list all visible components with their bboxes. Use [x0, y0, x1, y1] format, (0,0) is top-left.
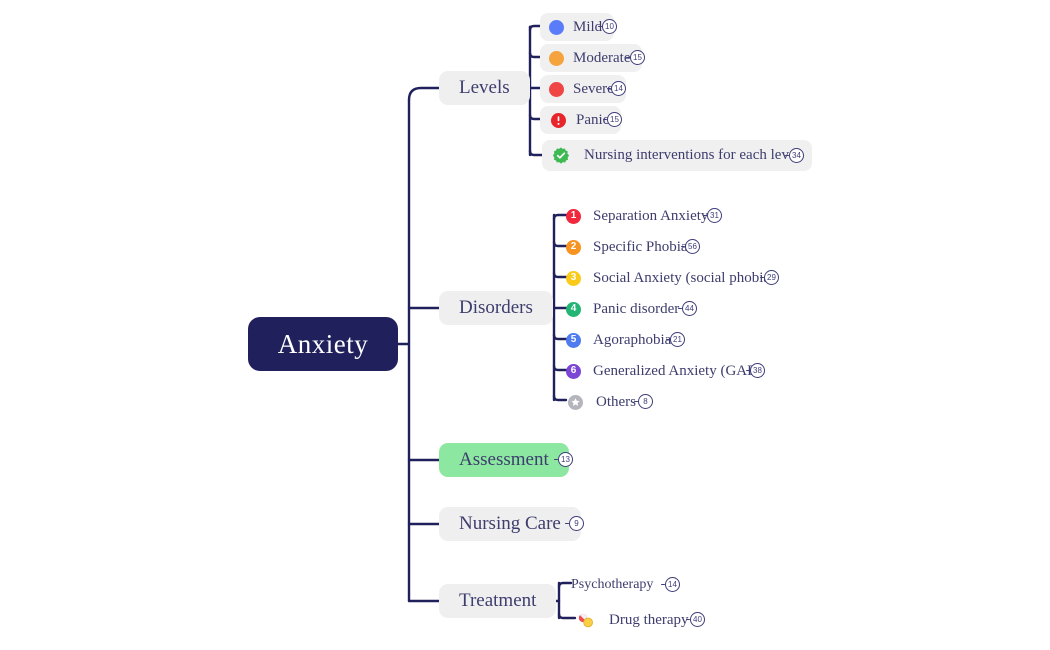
count-value: 21 [670, 332, 685, 347]
count-value: 38 [750, 363, 765, 378]
mindmap-canvas: Anxiety Levels Mild 10 Moderate 15 Sever… [0, 0, 1050, 650]
leaf-node-social-anxiety-label: Social Anxiety (social phobia) [593, 270, 775, 287]
number-badge-5-icon: 5 [566, 333, 581, 348]
count-value: 31 [707, 208, 722, 223]
count-badge-separation-anxiety[interactable]: 31 [703, 208, 722, 223]
count-badge-specific-phobia[interactable]: 56 [681, 239, 700, 254]
leaf-node-nursing-interventions-label: Nursing interventions for each level [584, 147, 800, 164]
count-value: 9 [569, 516, 584, 531]
count-value: 29 [764, 270, 779, 285]
count-value: 15 [630, 50, 645, 65]
count-badge-social-anxiety[interactable]: 29 [760, 270, 779, 285]
leaf-node-nursing-interventions[interactable]: Nursing interventions for each level [542, 140, 812, 171]
dot-icon [549, 20, 564, 35]
count-badge-panic-disorder[interactable]: 44 [678, 301, 697, 316]
number-badge-1-icon: 1 [566, 209, 581, 224]
exclamation-circle-icon [549, 111, 567, 129]
leaf-node-drug-therapy-label: Drug therapy [609, 612, 689, 629]
leaf-node-drug-therapy[interactable]: Drug therapy [577, 606, 701, 634]
count-badge-others[interactable]: 8 [634, 394, 653, 409]
count-value: 13 [558, 452, 573, 467]
count-badge-generalized-anxiety[interactable]: 38 [746, 363, 765, 378]
count-badge-severe[interactable]: 14 [607, 81, 626, 96]
leaf-node-agoraphobia-label: Agoraphobia [593, 332, 671, 349]
leaf-node-specific-phobia-label: Specific Phobia [593, 239, 688, 256]
leaf-node-moderate-label: Moderate [573, 50, 630, 67]
root-node-label: Anxiety [278, 329, 369, 360]
count-badge-agoraphobia[interactable]: 21 [666, 332, 685, 347]
count-badge-nursing-interventions[interactable]: 34 [785, 148, 804, 163]
count-value: 56 [685, 239, 700, 254]
branch-node-assessment-label: Assessment [459, 449, 549, 471]
count-value: 15 [607, 112, 622, 127]
leaf-node-social-anxiety[interactable]: 3 Social Anxiety (social phobia) [566, 264, 787, 292]
branch-node-disorders-label: Disorders [459, 297, 533, 319]
count-badge-nursing-care[interactable]: 9 [565, 516, 584, 531]
number-badge-6-icon: 6 [566, 364, 581, 379]
branch-node-treatment-label: Treatment [459, 590, 536, 612]
dot-icon [549, 51, 564, 66]
branch-node-disorders[interactable]: Disorders [439, 291, 553, 325]
count-value: 40 [690, 612, 705, 627]
leaf-node-panic-disorder[interactable]: 4 Panic disorder [566, 295, 691, 323]
leaf-node-psychotherapy[interactable]: Psychotherapy [571, 571, 665, 599]
count-value: 34 [789, 148, 804, 163]
leaf-node-separation-anxiety[interactable]: 1 Separation Anxiety [566, 202, 720, 230]
number-badge-3-icon: 3 [566, 271, 581, 286]
branch-node-treatment[interactable]: Treatment [439, 584, 556, 618]
branch-node-nursing-care[interactable]: Nursing Care [439, 507, 581, 541]
count-value: 14 [611, 81, 626, 96]
leaf-node-panic-disorder-label: Panic disorder [593, 301, 679, 318]
count-badge-mild[interactable]: 10 [598, 19, 617, 34]
dot-icon [549, 82, 564, 97]
number-badge-2-icon: 2 [566, 240, 581, 255]
count-value: 44 [682, 301, 697, 316]
number-badge-4-icon: 4 [566, 302, 581, 317]
branch-node-levels[interactable]: Levels [439, 71, 530, 105]
leaf-node-separation-anxiety-label: Separation Anxiety [593, 208, 708, 225]
branch-node-nursing-care-label: Nursing Care [459, 513, 561, 535]
verified-check-icon [552, 147, 570, 165]
branch-node-assessment[interactable]: Assessment [439, 443, 569, 477]
leaf-node-psychotherapy-label: Psychotherapy [571, 577, 653, 593]
pills-icon [577, 611, 595, 629]
count-badge-panic[interactable]: 15 [603, 112, 622, 127]
count-value: 8 [638, 394, 653, 409]
leaf-node-others-label: Others [596, 394, 636, 411]
count-badge-moderate[interactable]: 15 [626, 50, 645, 65]
leaf-node-specific-phobia[interactable]: 2 Specific Phobia [566, 233, 700, 261]
root-node-anxiety[interactable]: Anxiety [248, 317, 398, 371]
count-value: 10 [602, 19, 617, 34]
count-badge-assessment[interactable]: 13 [554, 452, 573, 467]
star-badge-icon [566, 393, 584, 411]
branch-node-levels-label: Levels [459, 77, 510, 99]
count-badge-psychotherapy[interactable]: 14 [661, 577, 680, 592]
leaf-node-generalized-anxiety[interactable]: 6 Generalized Anxiety (GAD) [566, 357, 775, 385]
leaf-node-generalized-anxiety-label: Generalized Anxiety (GAD) [593, 363, 763, 380]
count-value: 14 [665, 577, 680, 592]
count-badge-drug-therapy[interactable]: 40 [686, 612, 705, 627]
